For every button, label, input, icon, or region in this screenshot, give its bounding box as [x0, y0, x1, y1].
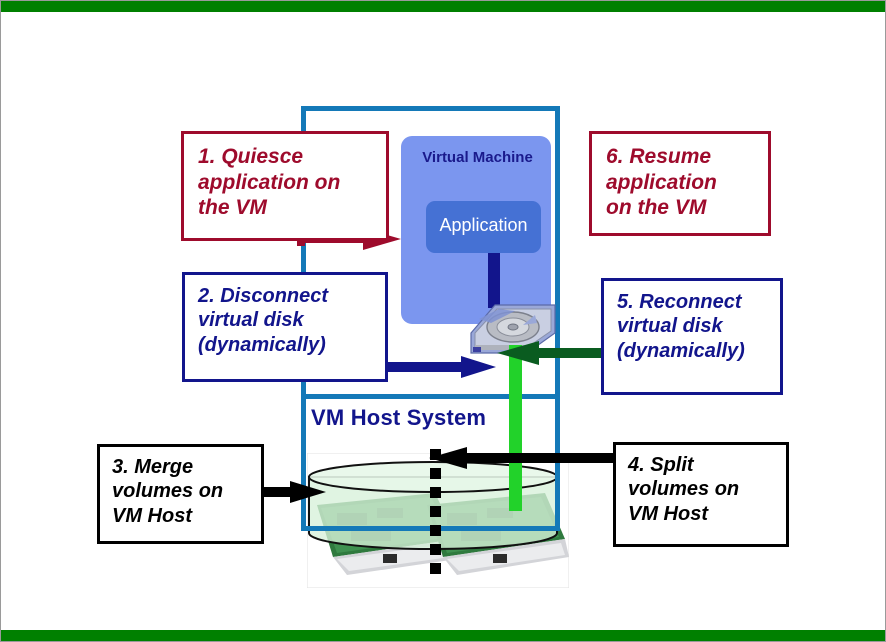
top-green-band [1, 1, 886, 12]
step-box-merge-volumes[interactable]: 3. Merge volumes on VM Host [97, 444, 264, 544]
step-box-quiesce-application[interactable]: 1. Quiesce application on the VM [181, 131, 389, 241]
step5-line3: (dynamically) [617, 339, 780, 363]
step1-line2: application on [198, 170, 386, 196]
step4-line2: volumes on [628, 477, 786, 501]
step4-line1: 4. Split [628, 453, 786, 477]
virtual-machine-label: Virtual Machine [411, 149, 544, 166]
slide-canvas: VM Host System Virtual Machine Applicati… [0, 0, 886, 642]
step1-line3: the VM [198, 195, 386, 221]
step5-line2: virtual disk [617, 314, 780, 338]
split-volume-green-bar [509, 345, 522, 511]
step2-line1: 2. Disconnect [198, 284, 385, 308]
step6-line3: on the VM [606, 195, 768, 221]
step3-line3: VM Host [112, 504, 261, 528]
step6-line2: application [606, 170, 768, 196]
application-label: Application [426, 215, 541, 236]
step4-line3: VM Host [628, 502, 786, 526]
step3-line2: volumes on [112, 479, 261, 503]
step-box-disconnect-virtual-disk[interactable]: 2. Disconnect virtual disk (dynamically) [182, 272, 388, 382]
step-box-split-volumes[interactable]: 4. Split volumes on VM Host [613, 442, 789, 547]
step3-line1: 3. Merge [112, 455, 261, 479]
step-box-resume-application[interactable]: 6. Resume application on the VM [589, 131, 771, 236]
step2-line2: virtual disk [198, 308, 385, 332]
step-box-reconnect-virtual-disk[interactable]: 5. Reconnect virtual disk (dynamically) [601, 278, 783, 395]
dashed-split-line [430, 449, 441, 583]
step1-line1: 1. Quiesce [198, 144, 386, 170]
arrow-merge-volumes [256, 481, 326, 503]
arrow-split-volumes [429, 447, 619, 469]
step2-line3: (dynamically) [198, 333, 385, 357]
step5-line1: 5. Reconnect [617, 290, 780, 314]
vm-host-system-label: VM Host System [311, 405, 486, 431]
step6-line1: 6. Resume [606, 144, 768, 170]
bottom-green-band [1, 630, 886, 641]
